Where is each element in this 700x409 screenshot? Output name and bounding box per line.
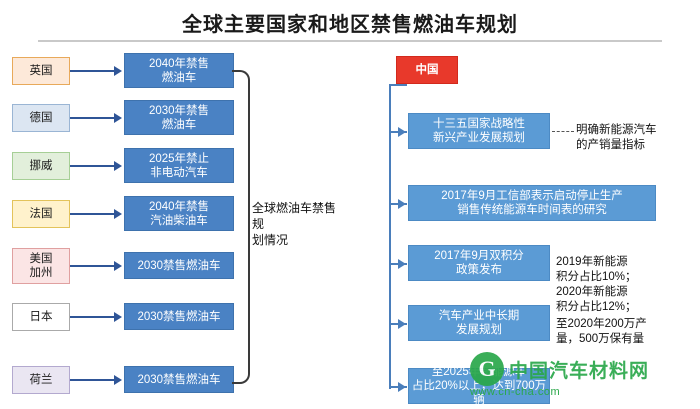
plan-box-france[interactable]: 2040年禁售 汽油柴油车 bbox=[124, 196, 234, 231]
connector-uk bbox=[70, 70, 116, 72]
country-chip-norway[interactable]: 挪威 bbox=[12, 152, 70, 180]
country-chip-netherlands[interactable]: 荷兰 bbox=[12, 366, 70, 394]
china-root-box[interactable]: 中国 bbox=[396, 56, 458, 84]
plan-box-netherlands[interactable]: 2030禁售燃油车 bbox=[124, 366, 234, 393]
note-1: 明确新能源汽车 的产销量指标 bbox=[576, 123, 696, 153]
arrow-netherlands bbox=[114, 375, 122, 385]
plan-box-california[interactable]: 2030禁售燃油车 bbox=[124, 252, 234, 279]
plan-box-norway[interactable]: 2025年禁止 非电动汽车 bbox=[124, 148, 234, 183]
note-2: 2019年新能源 积分占比10%； 2020年新能源 积分占比12%； bbox=[556, 255, 686, 315]
arrow-norway bbox=[114, 161, 122, 171]
dashed-connector-note-1 bbox=[552, 131, 574, 132]
arrow-california bbox=[114, 261, 122, 271]
country-chip-japan[interactable]: 日本 bbox=[12, 303, 70, 331]
country-chip-california[interactable]: 美国 加州 bbox=[12, 248, 70, 284]
china-item-2[interactable]: 2017年9月工信部表示启动停止生产 销售传统能源车时间表的研究 bbox=[408, 185, 656, 221]
center-group-label: 全球燃油车禁售规 划情况 bbox=[252, 200, 347, 248]
arrow-item-5 bbox=[398, 382, 406, 392]
connector-netherlands bbox=[70, 379, 116, 381]
diagram-canvas: 全球主要国家和地区禁售燃油车规划 英国 德国 挪威 法国 美国 加州 日本 荷兰… bbox=[0, 0, 700, 409]
plan-box-japan[interactable]: 2030禁售燃油车 bbox=[124, 303, 234, 330]
title-divider bbox=[38, 40, 662, 42]
connector-norway bbox=[70, 165, 116, 167]
china-item-1[interactable]: 十三五国家战略性 新兴产业发展规划 bbox=[408, 113, 550, 149]
plan-box-germany[interactable]: 2030年禁售 燃油车 bbox=[124, 100, 234, 135]
arrow-japan bbox=[114, 312, 122, 322]
arrow-item-3 bbox=[398, 259, 406, 269]
china-spine-top bbox=[389, 84, 407, 86]
connector-france bbox=[70, 213, 116, 215]
connector-california bbox=[70, 265, 116, 267]
left-group-brace bbox=[232, 70, 250, 384]
china-item-4[interactable]: 汽车产业中长期 发展规划 bbox=[408, 305, 550, 341]
china-spine bbox=[389, 84, 391, 389]
connector-japan bbox=[70, 316, 116, 318]
plan-box-uk[interactable]: 2040年禁售 燃油车 bbox=[124, 53, 234, 88]
country-chip-france[interactable]: 法国 bbox=[12, 200, 70, 228]
arrow-germany bbox=[114, 113, 122, 123]
arrow-uk bbox=[114, 66, 122, 76]
watermark-logo-icon: G bbox=[470, 352, 504, 386]
page-title: 全球主要国家和地区禁售燃油车规划 bbox=[0, 8, 700, 37]
watermark: G 中国汽车材料网 bbox=[470, 352, 649, 386]
country-chip-uk[interactable]: 英国 bbox=[12, 57, 70, 85]
watermark-text: 中国汽车材料网 bbox=[509, 356, 649, 383]
arrow-france bbox=[114, 209, 122, 219]
country-chip-germany[interactable]: 德国 bbox=[12, 104, 70, 132]
connector-germany bbox=[70, 117, 116, 119]
china-item-3[interactable]: 2017年9月双积分 政策发布 bbox=[408, 245, 550, 281]
arrow-item-4 bbox=[398, 319, 406, 329]
arrow-item-2 bbox=[398, 199, 406, 209]
watermark-url: www.cn-cha.com bbox=[470, 386, 560, 398]
arrow-item-1 bbox=[398, 127, 406, 137]
note-3: 至2020年200万产 量，500万保有量 bbox=[556, 317, 696, 347]
